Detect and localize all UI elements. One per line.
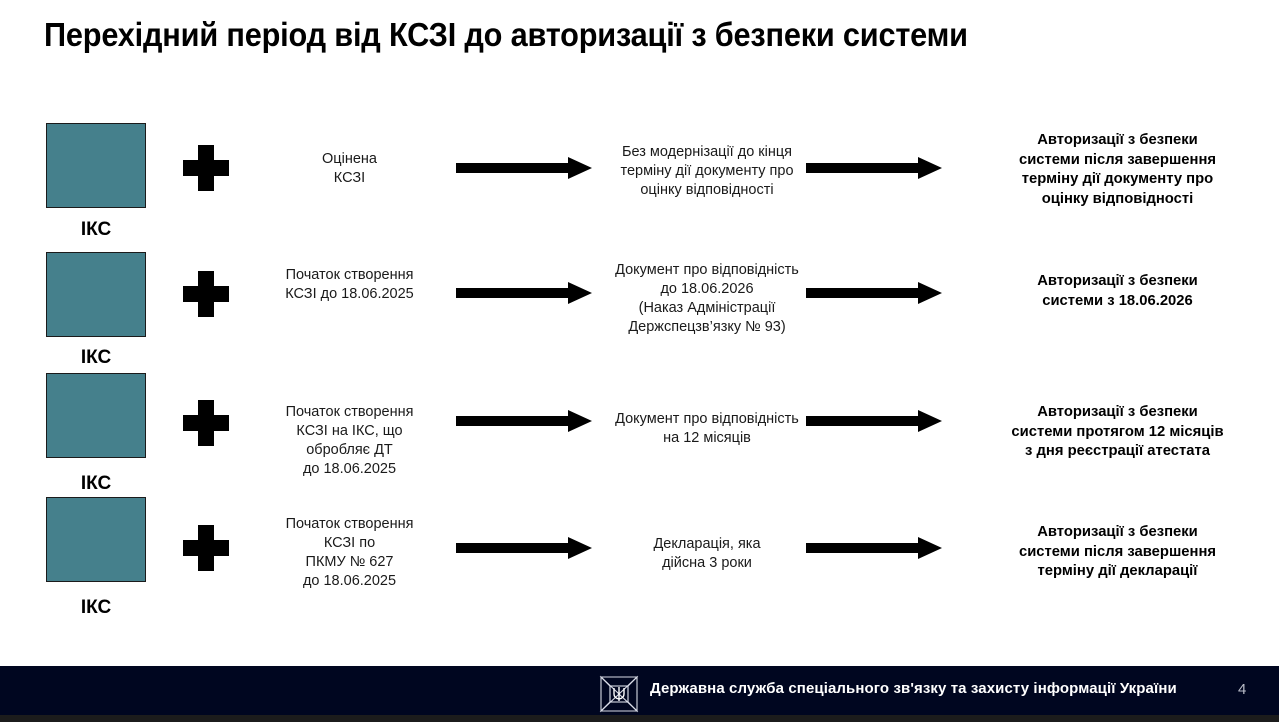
arrow-right-icon (456, 282, 592, 304)
ics-box (46, 123, 146, 208)
result-text: Авторизації з безпекисистеми з 18.06.202… (985, 272, 1250, 311)
result-text: Авторизації з безпекисистеми після завер… (985, 131, 1250, 210)
plus-icon (183, 271, 229, 317)
page-number: 4 (1238, 681, 1246, 698)
ics-box (46, 497, 146, 582)
condition-text: Початок створенняКСЗІ на ІКС, щообробляє… (262, 403, 437, 478)
result-text: Авторизації з безпекисистеми протягом 12… (985, 403, 1250, 462)
condition-text: ОціненаКСЗІ (262, 150, 437, 188)
ics-box-label: ІКС (44, 219, 148, 241)
arrow-right-icon (806, 282, 942, 304)
condition-text: Початок створенняКСЗІ поПКМУ № 627до 18.… (262, 515, 437, 590)
document-text: Документ про відповідністьна 12 місяців (592, 410, 822, 448)
document-text: Документ про відповідністьдо 18.06.2026(… (592, 261, 822, 336)
slide-root: Перехідний період від КСЗІ до авторизаці… (0, 0, 1279, 722)
footer-bottom-strip (0, 715, 1279, 722)
arrow-right-icon (806, 157, 942, 179)
arrow-right-icon (456, 410, 592, 432)
arrow-right-icon (456, 157, 592, 179)
ics-box-label: ІКС (44, 473, 148, 495)
condition-text: Початок створенняКСЗІ до 18.06.2025 (262, 266, 437, 304)
ics-box-label: ІКС (44, 347, 148, 369)
document-text: Декларація, якадійсна 3 роки (592, 535, 822, 573)
result-text: Авторизації з безпекисистеми після завер… (985, 523, 1250, 582)
ics-box-label: ІКС (44, 597, 148, 619)
arrow-right-icon (806, 410, 942, 432)
plus-icon (183, 400, 229, 446)
page-title: Перехідний період від КСЗІ до авторизаці… (44, 14, 974, 56)
state-service-emblem-icon (597, 674, 641, 714)
plus-icon (183, 145, 229, 191)
arrow-right-icon (456, 537, 592, 559)
document-text: Без модернізації до кінцятерміну дії док… (592, 143, 822, 200)
ics-box (46, 252, 146, 337)
footer-organization-text: Державна служба спеціального зв'язку та … (650, 680, 1177, 697)
arrow-right-icon (806, 537, 942, 559)
ics-box (46, 373, 146, 458)
plus-icon (183, 525, 229, 571)
